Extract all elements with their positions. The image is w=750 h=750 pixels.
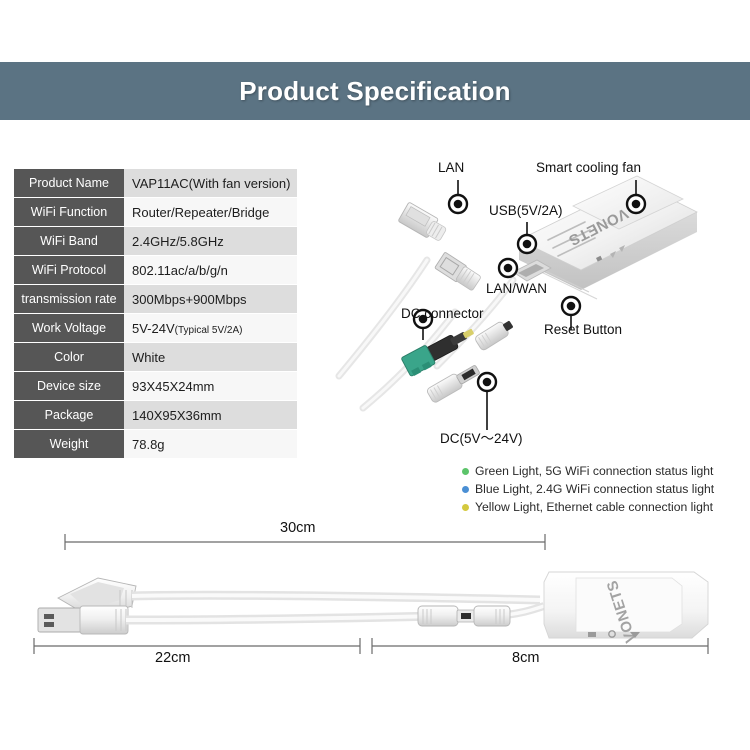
list-item: Blue Light, 2.4G WiFi connection status …: [462, 480, 747, 498]
cable-dimension-illustration: VONETS: [20, 520, 740, 670]
spec-key-wifi-protocol: WiFi Protocol: [14, 256, 124, 284]
page-header-banner: Product Specification: [0, 62, 750, 120]
callout-label-lan-wan: LAN/WAN: [486, 281, 547, 296]
lan-rj45-connector: [398, 202, 449, 244]
spec-value-package: 140X95X36mm: [124, 401, 297, 429]
spec-key-package: Package: [14, 401, 124, 429]
spec-value-product-name: VAP11AC(With fan version): [124, 169, 297, 197]
table-row: WiFi Protocol 802.11ac/a/b/g/n: [14, 256, 297, 284]
spec-key-color: Color: [14, 343, 124, 371]
table-row: Device size 93X45X24mm: [14, 372, 297, 400]
spec-key-work-voltage: Work Voltage: [14, 314, 124, 342]
list-item: Yellow Light, Ethernet cable connection …: [462, 498, 747, 516]
dimension-line-segments: [34, 638, 708, 654]
callout-label-usb: USB(5V/2A): [489, 203, 563, 218]
dimension-line-total: [65, 534, 545, 550]
spec-key-transmission-rate: transmission rate: [14, 285, 124, 313]
blue-light-dot-icon: [462, 486, 469, 493]
dc-barrel-joint: [418, 606, 510, 626]
green-light-dot-icon: [462, 468, 469, 475]
legend-text-yellow: Yellow Light, Ethernet cable connection …: [475, 500, 713, 514]
spec-value-wifi-band: 2.4GHz/5.8GHz: [124, 227, 297, 255]
led-status-legend: Green Light, 5G WiFi connection status l…: [462, 462, 747, 516]
spec-key-wifi-band: WiFi Band: [14, 227, 124, 255]
page-title: Product Specification: [239, 76, 510, 107]
list-item: Green Light, 5G WiFi connection status l…: [462, 462, 747, 480]
usb-plug: [38, 606, 128, 634]
callout-label-lan: LAN: [438, 160, 464, 175]
usb-connector: [435, 252, 482, 292]
work-voltage-typical: (Typical 5V/2A): [175, 325, 243, 336]
spec-key-weight: Weight: [14, 430, 124, 458]
spec-value-transmission-rate: 300Mbps+900Mbps: [124, 285, 297, 313]
product-diagram-illustration: VONETS: [305, 140, 750, 470]
callout-label-dc-connector: DC connector: [401, 306, 484, 321]
spec-value-weight: 78.8g: [124, 430, 297, 458]
callout-label-reset-button: Reset Button: [544, 322, 622, 337]
spec-key-device-size: Device size: [14, 372, 124, 400]
callout-label-smart-cooling-fan: Smart cooling fan: [536, 160, 641, 175]
spec-value-device-size: 93X45X24mm: [124, 372, 297, 400]
table-row: Color White: [14, 343, 297, 371]
table-row: Work Voltage 5V-24V(Typical 5V/2A): [14, 314, 297, 342]
table-row: transmission rate 300Mbps+900Mbps: [14, 285, 297, 313]
spec-value-wifi-function: Router/Repeater/Bridge: [124, 198, 297, 226]
table-row: WiFi Band 2.4GHz/5.8GHz: [14, 227, 297, 255]
device-body-bottom: VONETS: [544, 572, 708, 645]
product-diagram: VONETS: [305, 140, 750, 470]
table-row: Weight 78.8g: [14, 430, 297, 458]
table-row: Product Name VAP11AC(With fan version): [14, 169, 297, 197]
spec-value-color: White: [124, 343, 297, 371]
dimension-label-cable: 22cm: [155, 650, 190, 666]
dimension-label-total: 30cm: [280, 520, 315, 536]
yellow-light-dot-icon: [462, 504, 469, 511]
legend-text-green: Green Light, 5G WiFi connection status l…: [475, 464, 713, 478]
cable-dimension-diagram: VONETS 30cm 22cm 8cm: [20, 520, 740, 670]
spec-key-product-name: Product Name: [14, 169, 124, 197]
spec-key-wifi-function: WiFi Function: [14, 198, 124, 226]
work-voltage-main: 5V-24V: [132, 321, 175, 336]
table-row: Package 140X95X36mm: [14, 401, 297, 429]
product-specification-table: Product Name VAP11AC(With fan version) W…: [14, 168, 297, 459]
dc-barrel-plug: [426, 362, 482, 403]
spec-table-body: Product Name VAP11AC(With fan version) W…: [14, 169, 297, 458]
legend-text-blue: Blue Light, 2.4G WiFi connection status …: [475, 482, 714, 496]
spec-value-work-voltage: 5V-24V(Typical 5V/2A): [124, 314, 297, 342]
dimension-label-device: 8cm: [512, 650, 539, 666]
table-row: WiFi Function Router/Repeater/Bridge: [14, 198, 297, 226]
callout-label-dc-voltage: DC(5V～24V): [440, 427, 523, 447]
spec-value-wifi-protocol: 802.11ac/a/b/g/n: [124, 256, 297, 284]
